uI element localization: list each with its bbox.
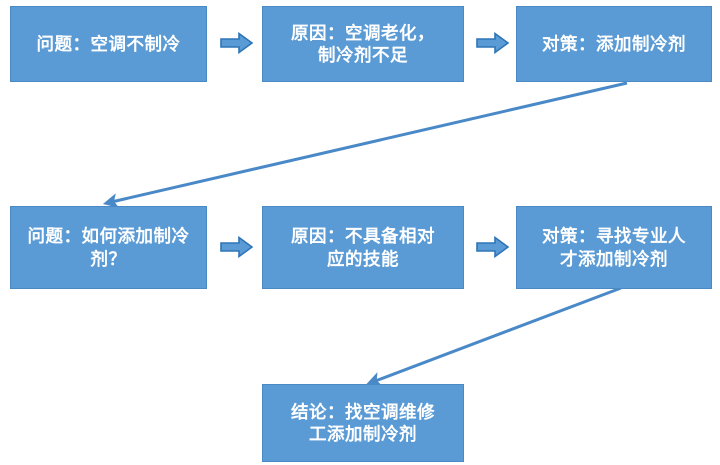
right-arrow-icon xyxy=(476,32,509,54)
right-arrow-icon xyxy=(220,236,253,258)
node-conclusion[interactable]: 结论：找空调维修 工添加制冷剂 xyxy=(262,384,464,462)
right-arrow-icon xyxy=(220,32,253,54)
connector-measure2-to-conclusion xyxy=(370,288,621,383)
node-problem-1[interactable]: 问题：空调不制冷 xyxy=(10,6,207,82)
diagram-canvas: 问题：空调不制冷 原因：空调老化， 制冷剂不足 对策：添加制冷剂 问题：如何添加… xyxy=(0,0,720,465)
node-measure-2[interactable]: 对策：寻找专业人 才添加制冷剂 xyxy=(516,206,712,289)
node-measure-1[interactable]: 对策：添加制冷剂 xyxy=(516,6,712,82)
node-problem-2[interactable]: 问题：如何添加制冷 剂？ xyxy=(10,206,207,289)
node-cause-2[interactable]: 原因：不具备相对 应的技能 xyxy=(262,206,464,289)
connector-measure1-to-problem2 xyxy=(107,83,627,203)
node-cause-1[interactable]: 原因：空调老化， 制冷剂不足 xyxy=(262,6,464,82)
right-arrow-icon xyxy=(476,236,509,258)
